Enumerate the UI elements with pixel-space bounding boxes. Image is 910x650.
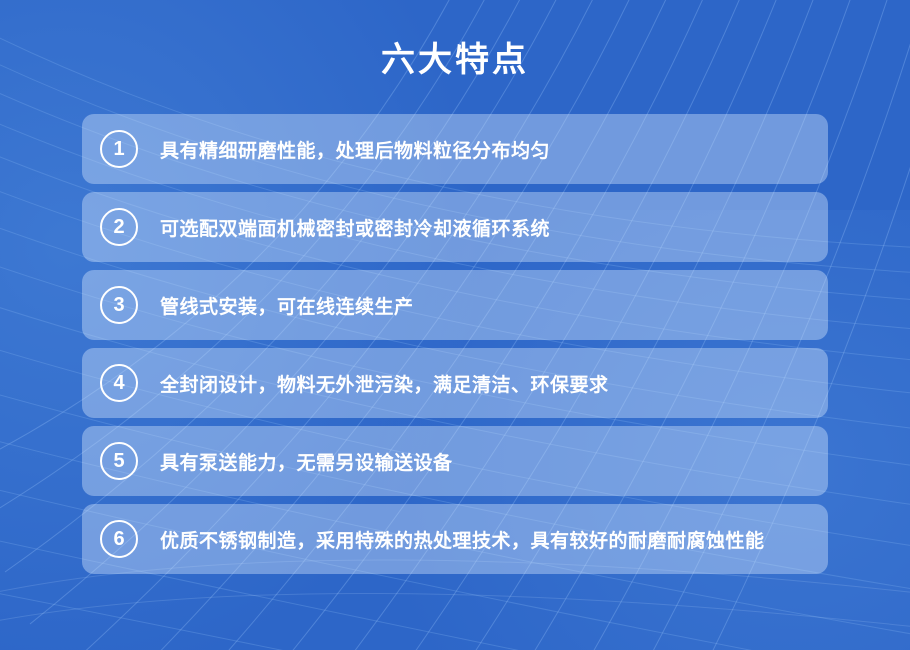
feature-row-1[interactable]: 1 具有精细研磨性能，处理后物料粒径分布均匀 <box>82 114 828 184</box>
feature-poster: 六大特点 1 具有精细研磨性能，处理后物料粒径分布均匀 2 可选配双端面机械密封… <box>0 0 910 650</box>
feature-text-1: 具有精细研磨性能，处理后物料粒径分布均匀 <box>160 136 550 163</box>
feature-text-6: 优质不锈钢制造，采用特殊的热处理技术，具有较好的耐磨耐腐蚀性能 <box>160 526 765 553</box>
feature-number-badge-5: 5 <box>100 442 138 480</box>
page-title: 六大特点 <box>0 38 910 82</box>
feature-number-badge-2: 2 <box>100 208 138 246</box>
feature-text-2: 可选配双端面机械密封或密封冷却液循环系统 <box>160 214 550 241</box>
feature-number-badge-3: 3 <box>100 286 138 324</box>
feature-row-5[interactable]: 5 具有泵送能力，无需另设输送设备 <box>82 426 828 496</box>
feature-number-badge-4: 4 <box>100 364 138 402</box>
feature-number-badge-6: 6 <box>100 520 138 558</box>
feature-row-6[interactable]: 6 优质不锈钢制造，采用特殊的热处理技术，具有较好的耐磨耐腐蚀性能 <box>82 504 828 574</box>
feature-row-2[interactable]: 2 可选配双端面机械密封或密封冷却液循环系统 <box>82 192 828 262</box>
feature-row-4[interactable]: 4 全封闭设计，物料无外泄污染，满足清洁、环保要求 <box>82 348 828 418</box>
feature-list: 1 具有精细研磨性能，处理后物料粒径分布均匀 2 可选配双端面机械密封或密封冷却… <box>82 114 828 582</box>
feature-text-5: 具有泵送能力，无需另设输送设备 <box>160 448 453 475</box>
feature-number-badge-1: 1 <box>100 130 138 168</box>
feature-row-3[interactable]: 3 管线式安装，可在线连续生产 <box>82 270 828 340</box>
feature-text-4: 全封闭设计，物料无外泄污染，满足清洁、环保要求 <box>160 370 609 397</box>
feature-text-3: 管线式安装，可在线连续生产 <box>160 292 414 319</box>
poster-content: 六大特点 1 具有精细研磨性能，处理后物料粒径分布均匀 2 可选配双端面机械密封… <box>0 0 910 650</box>
